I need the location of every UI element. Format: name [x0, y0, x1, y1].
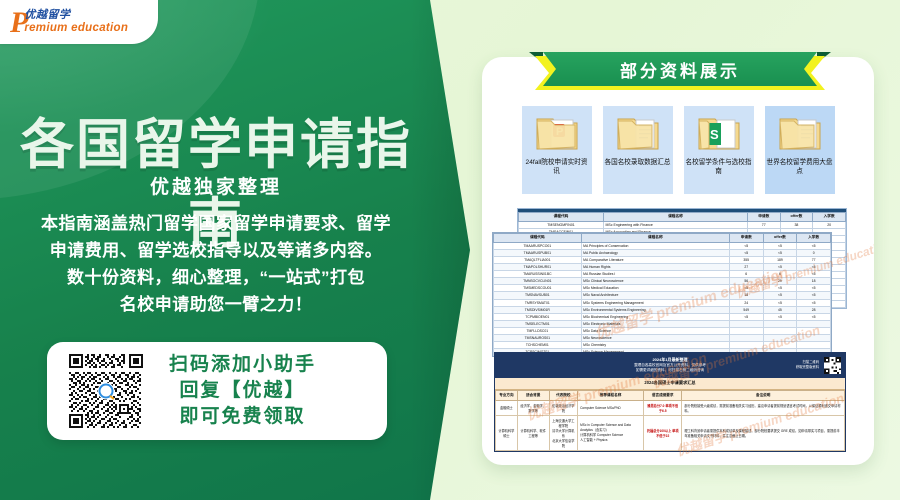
table-cell — [729, 342, 763, 349]
table-cell: MSc Biochemical Engineering — [581, 313, 729, 320]
table-cell — [763, 320, 797, 327]
requirements-col-header: 语言成绩要求 — [644, 390, 682, 400]
table-cell: MSc Clinical Neuroscience — [581, 278, 729, 285]
table-cell: 18 — [729, 292, 763, 299]
table-row[interactable]: TMNSOCVCLIN01MSc Clinical Neuroscience56… — [494, 278, 831, 285]
folder-label: 各国名校录取数据汇总 — [605, 158, 671, 167]
showcase-ribbon-title: 部分资料展示 — [620, 57, 740, 82]
table-cell: MA Russian Studies I — [581, 271, 729, 278]
table-cell: 计算机科学硕士 — [496, 415, 518, 450]
requirements-col-header: 专业方向 — [496, 390, 518, 400]
table-row[interactable]: TMSDIVSIM01RMSc Environmental Systems En… — [494, 306, 831, 313]
table-cell: TMSENGMFIN01 — [519, 221, 604, 228]
folder-label: 世界名校留学费用大盘点 — [767, 158, 833, 176]
table-cell — [797, 342, 831, 349]
table-cell: TMAARUSPCO01 — [494, 242, 582, 249]
table-cell: MSc Neuroscience — [581, 335, 729, 342]
table-cell: <5 — [763, 292, 797, 299]
document-subtitle: 2024各国硕士申请要求汇总 — [495, 378, 845, 390]
table-cell: 77 — [747, 221, 780, 228]
table-cell: TMAARUSPUB01 — [494, 249, 582, 256]
logo-chinese-name: 优越留学 — [24, 10, 128, 21]
table-cell: <5 — [763, 313, 797, 320]
table-cell: 托福总分100以上 单项不低于22 — [644, 415, 682, 450]
table-cell: MA Public Archaeology — [581, 249, 729, 256]
table-cell: TCHSCHEM01 — [494, 342, 582, 349]
table-cell: 24 — [729, 299, 763, 306]
table-cell: 计算机科学、软件工程等 — [517, 415, 549, 450]
document-header-line: 整理自各高校官网及官方公开资料，仅供参考 — [634, 363, 706, 367]
folder-item[interactable]: 世界名校留学费用大盘点 — [765, 106, 835, 194]
col-offers: offer数 — [763, 234, 797, 243]
table-cell: 金融硕士 — [496, 400, 518, 415]
table-cell: 伦敦政治经济学院 — [549, 400, 578, 415]
table-cell: MSc Medical Education — [581, 285, 729, 292]
page-subtitle: 优越独家整理 — [0, 172, 432, 199]
table-cell: 29 — [763, 278, 797, 285]
document-header-title: 2024年1月最新整理 — [652, 357, 687, 362]
table-row[interactable]: TMAARUSPCO01MA Principles of Conservatio… — [494, 242, 831, 249]
poster-root: P 优越留学 remium education 各国留学申请指南 优越独家整理 … — [0, 0, 900, 500]
table-cell — [797, 320, 831, 327]
table-cell: 上海交通大学工程学院 清华大学计算机系 北京大学信息学院 — [549, 415, 578, 450]
table-row[interactable]: TCHSCHEM01MSc Chemistry — [494, 342, 831, 349]
table-row[interactable]: TMFLLDSC01MSc Data Science — [494, 327, 831, 334]
table-cell — [763, 342, 797, 349]
folder-doc-icon — [774, 111, 826, 155]
table-cell: 6 — [763, 271, 797, 278]
table-cell: <5 — [763, 264, 797, 271]
table-cell: 经济学、金融学、数学等 — [517, 400, 549, 415]
table-cell: 56 — [729, 278, 763, 285]
ribbon-green-layer: 部分资料展示 — [543, 52, 817, 86]
table-cell: TCPMBIOEN01 — [494, 313, 582, 320]
table-cell: 45 — [763, 306, 797, 313]
table-cell — [763, 327, 797, 334]
table-cell: 77 — [797, 256, 831, 263]
table-cell: 雅思总分7.0 单项不低于6.5 — [644, 400, 682, 415]
table-cell: TMSNAVSUB01 — [494, 292, 582, 299]
table-cell — [797, 327, 831, 334]
table-cell: MSc Naval Architecture — [581, 292, 729, 299]
qr-cta-line: 即可免费领取 — [169, 404, 316, 430]
folder-doc-icon — [612, 111, 664, 155]
table-cell: <5 — [729, 313, 763, 320]
table-cell: 549 — [729, 306, 763, 313]
qr-cta-line: 回复【优越】 — [169, 378, 316, 404]
table-cell — [729, 335, 763, 342]
col-offers: offer数 — [780, 213, 813, 222]
folder-pdf-icon: P — [531, 111, 583, 155]
col-applications: 申请数 — [729, 234, 763, 243]
spreadsheet-front[interactable]: 课程代码 课程名称 申请数 offer数 入学数 TMAARUSPCO01MA … — [492, 232, 832, 357]
table-cell: MSc Electronic Materials — [581, 320, 729, 327]
table-cell: 189 — [763, 256, 797, 263]
requirements-col-header: 备注说明 — [682, 390, 845, 400]
table-cell: TMRSYSMAT01 — [494, 299, 582, 306]
course-table-front: 课程代码 课程名称 申请数 offer数 入学数 TMAARUSPCO01MA … — [493, 233, 831, 356]
table-row[interactable]: TMSNAUROS01MSc Neuroscience — [494, 335, 831, 342]
table-cell: Computer Science MSc/PhD — [578, 400, 644, 415]
folder-item[interactable]: 各国名校录取数据汇总 — [603, 106, 673, 194]
table-cell: TMAQLTFLIA001 — [494, 256, 582, 263]
hero-description: 本指南涵盖热门留学国家留学申请要求、留学 申请费用、留学选校指导以及等诸多内容。… — [16, 210, 416, 318]
brand-logo: P 优越留学 remium education — [0, 0, 158, 44]
table-cell: <5 — [797, 313, 831, 320]
table-cell: 6 — [729, 271, 763, 278]
table-cell: MSc Chemistry — [581, 342, 729, 349]
col-enrolled: 入学数 — [797, 234, 831, 243]
table-cell: 38 — [780, 221, 813, 228]
svg-text:S: S — [710, 127, 719, 142]
document-header-note-line: 获取完整版资料 — [796, 365, 819, 370]
folder-label: 名校留学条件与选校指南 — [686, 158, 752, 176]
table-row[interactable]: TMAPOLSHUR01MA Human Rights27<5<5 — [494, 264, 831, 271]
table-cell: <5 — [729, 285, 763, 292]
table-cell: 355 — [729, 256, 763, 263]
table-row[interactable]: TMSENGMFIN01MSc Engineering with Finance… — [519, 221, 846, 228]
document-header-note: 扫描二维码 获取完整版资料 — [796, 360, 819, 369]
table-row[interactable]: TMRSYSMAT01MSc Systems Engineering Manag… — [494, 299, 831, 306]
document-qr-icon — [824, 357, 841, 374]
table-cell: 18 — [797, 278, 831, 285]
document-header: 2024年1月最新整理 整理自各高校官网及官方公开资料，仅供参考 如需更详细的资… — [495, 353, 845, 378]
table-cell: TMAPOLSHUR01 — [494, 264, 582, 271]
folder-list: P 24fall院校申请实时资讯 各国名校录取数据汇总 — [482, 106, 874, 194]
table-cell: TMARUSSIN01BC — [494, 271, 582, 278]
table-cell — [729, 320, 763, 327]
showcase-ribbon: 部分资料展示 — [535, 52, 825, 92]
table-cell: <5 — [797, 264, 831, 271]
table-cell: TMSELECTM01 — [494, 320, 582, 327]
table-cell: TMSNAUROS01 — [494, 335, 582, 342]
requirements-col-header: 推荐课程名称 — [578, 390, 644, 400]
table-cell: 27 — [729, 264, 763, 271]
col-applications: 申请数 — [747, 213, 780, 222]
table-header-row: 专业方向适合背景代表院校推荐课程名称语言成绩要求备注说明 — [496, 390, 845, 400]
qr-cta-text: 扫码添加小助手 回复【优越】 即可免费领取 — [169, 352, 316, 430]
logo-english-name: remium education — [24, 22, 128, 35]
requirements-table: 专业方向适合背景代表院校推荐课程名称语言成绩要求备注说明 金融硕士经济学、金融学… — [495, 390, 845, 451]
table-row[interactable]: TMARUSSIN01BCMA Russian Studies I66<5 — [494, 271, 831, 278]
table-row[interactable]: TMSMEDSCOU01MSc Medical Education<5<5<5 — [494, 285, 831, 292]
col-course-name: 课程名称 — [604, 213, 748, 222]
table-cell: MSc Environmental Systems Engineering — [581, 306, 729, 313]
table-cell: 部分院校接受六级成绩，需提前准备相关实习经历。建议申请者提前规划语言考试时间，以… — [682, 400, 845, 415]
qr-center-logo-icon — [98, 383, 115, 400]
table-cell: TMSDIVSIM01R — [494, 306, 582, 313]
table-cell: 20 — [813, 221, 846, 228]
table-cell: TMSMEDSCOU01 — [494, 285, 582, 292]
hero-description-line: 本指南涵盖热门留学国家留学申请要求、留学 — [16, 210, 416, 237]
folder-label: 24fall院校申请实时资讯 — [524, 158, 590, 176]
hero-description-line: 数十份资料，细心整理，“一站式”打包 — [16, 264, 416, 291]
col-course-name: 课程名称 — [581, 234, 729, 243]
table-cell: <5 — [729, 242, 763, 249]
folder-xls-icon: S — [693, 111, 745, 155]
hero-description-line: 名校申请助您一臂之力！ — [16, 291, 416, 318]
folder-item[interactable]: S 名校留学条件与选校指南 — [684, 106, 754, 194]
table-row[interactable]: TMAARUSPUB01MA Public Archaeology<5<50 — [494, 249, 831, 256]
table-header-row: 课程代码 课程名称 申请数 offer数 入学数 — [494, 234, 831, 243]
table-cell: <5 — [763, 249, 797, 256]
qr-cta-card[interactable]: 扫码添加小助手 回复【优越】 即可免费领取 — [47, 342, 387, 440]
table-cell: TMNSOCVCLIN01 — [494, 278, 582, 285]
table-cell: MA Comparative Literature — [581, 256, 729, 263]
table-cell: MSc Engineering with Finance — [604, 221, 748, 228]
col-course-code: 课程代码 — [494, 234, 582, 243]
table-cell: <5 — [729, 249, 763, 256]
table-row[interactable]: TMSELECTM01MSc Electronic Materials — [494, 320, 831, 327]
table-header-row: 课程代码 课程名称 申请数 offer数 入学数 — [519, 213, 846, 222]
table-cell: 0 — [797, 249, 831, 256]
requirements-col-header: 代表院校 — [549, 390, 578, 400]
table-cell: MSc Systems Engineering Management — [581, 299, 729, 306]
table-cell: MSc Data Science — [581, 327, 729, 334]
table-cell: <5 — [763, 299, 797, 306]
table-cell: MA Human Rights — [581, 264, 729, 271]
table-cell: <5 — [763, 285, 797, 292]
document-header-line: 如需更详细的资料，可扫描右侧二维码咨询 — [636, 368, 704, 372]
col-enrolled: 入学数 — [813, 213, 846, 222]
table-cell: TMFLLDSC01 — [494, 327, 582, 334]
table-cell: MSc in Computer Science and Data Analyti… — [578, 415, 644, 450]
qr-cta-line: 扫码添加小助手 — [169, 352, 316, 378]
qr-code[interactable] — [69, 354, 143, 428]
table-cell: <5 — [797, 271, 831, 278]
folder-item[interactable]: P 24fall院校申请实时资讯 — [522, 106, 592, 194]
table-cell: <5 — [797, 242, 831, 249]
table-row[interactable]: TMSNAVSUB01MSc Naval Architecture18<5<5 — [494, 292, 831, 299]
document-preview-stack: 课程代码 课程名称 申请数 offer数 入学数 TMSENGMFIN01MSc… — [482, 200, 874, 465]
table-row[interactable]: TMAQLTFLIA001MA Comparative Literature35… — [494, 256, 831, 263]
requirements-document[interactable]: 2024年1月最新整理 整理自各高校官网及官方公开资料，仅供参考 如需更详细的资… — [494, 352, 846, 452]
col-course-code: 课程代码 — [519, 213, 604, 222]
table-cell: <5 — [797, 299, 831, 306]
hero-description-line: 申请费用、留学选校指导以及等诸多内容。 — [16, 237, 416, 264]
table-cell: 理工科背景申请者需提供本科成绩单及课程描述，部分院校要求提交 GRE 成绩。如申… — [682, 415, 845, 450]
requirements-col-header: 适合背景 — [517, 390, 549, 400]
table-cell — [797, 335, 831, 342]
table-cell: <5 — [797, 292, 831, 299]
table-cell: <5 — [763, 242, 797, 249]
table-row[interactable]: 金融硕士经济学、金融学、数学等伦敦政治经济学院Computer Science … — [496, 400, 845, 415]
table-cell — [729, 327, 763, 334]
table-cell — [763, 335, 797, 342]
table-cell: <5 — [797, 285, 831, 292]
table-cell: 28 — [797, 306, 831, 313]
table-row[interactable]: 计算机科学硕士计算机科学、软件工程等上海交通大学工程学院 清华大学计算机系 北京… — [496, 415, 845, 450]
table-cell: MA Principles of Conservation — [581, 242, 729, 249]
table-row[interactable]: TCPMBIOEN01MSc Biochemical Engineering<5… — [494, 313, 831, 320]
